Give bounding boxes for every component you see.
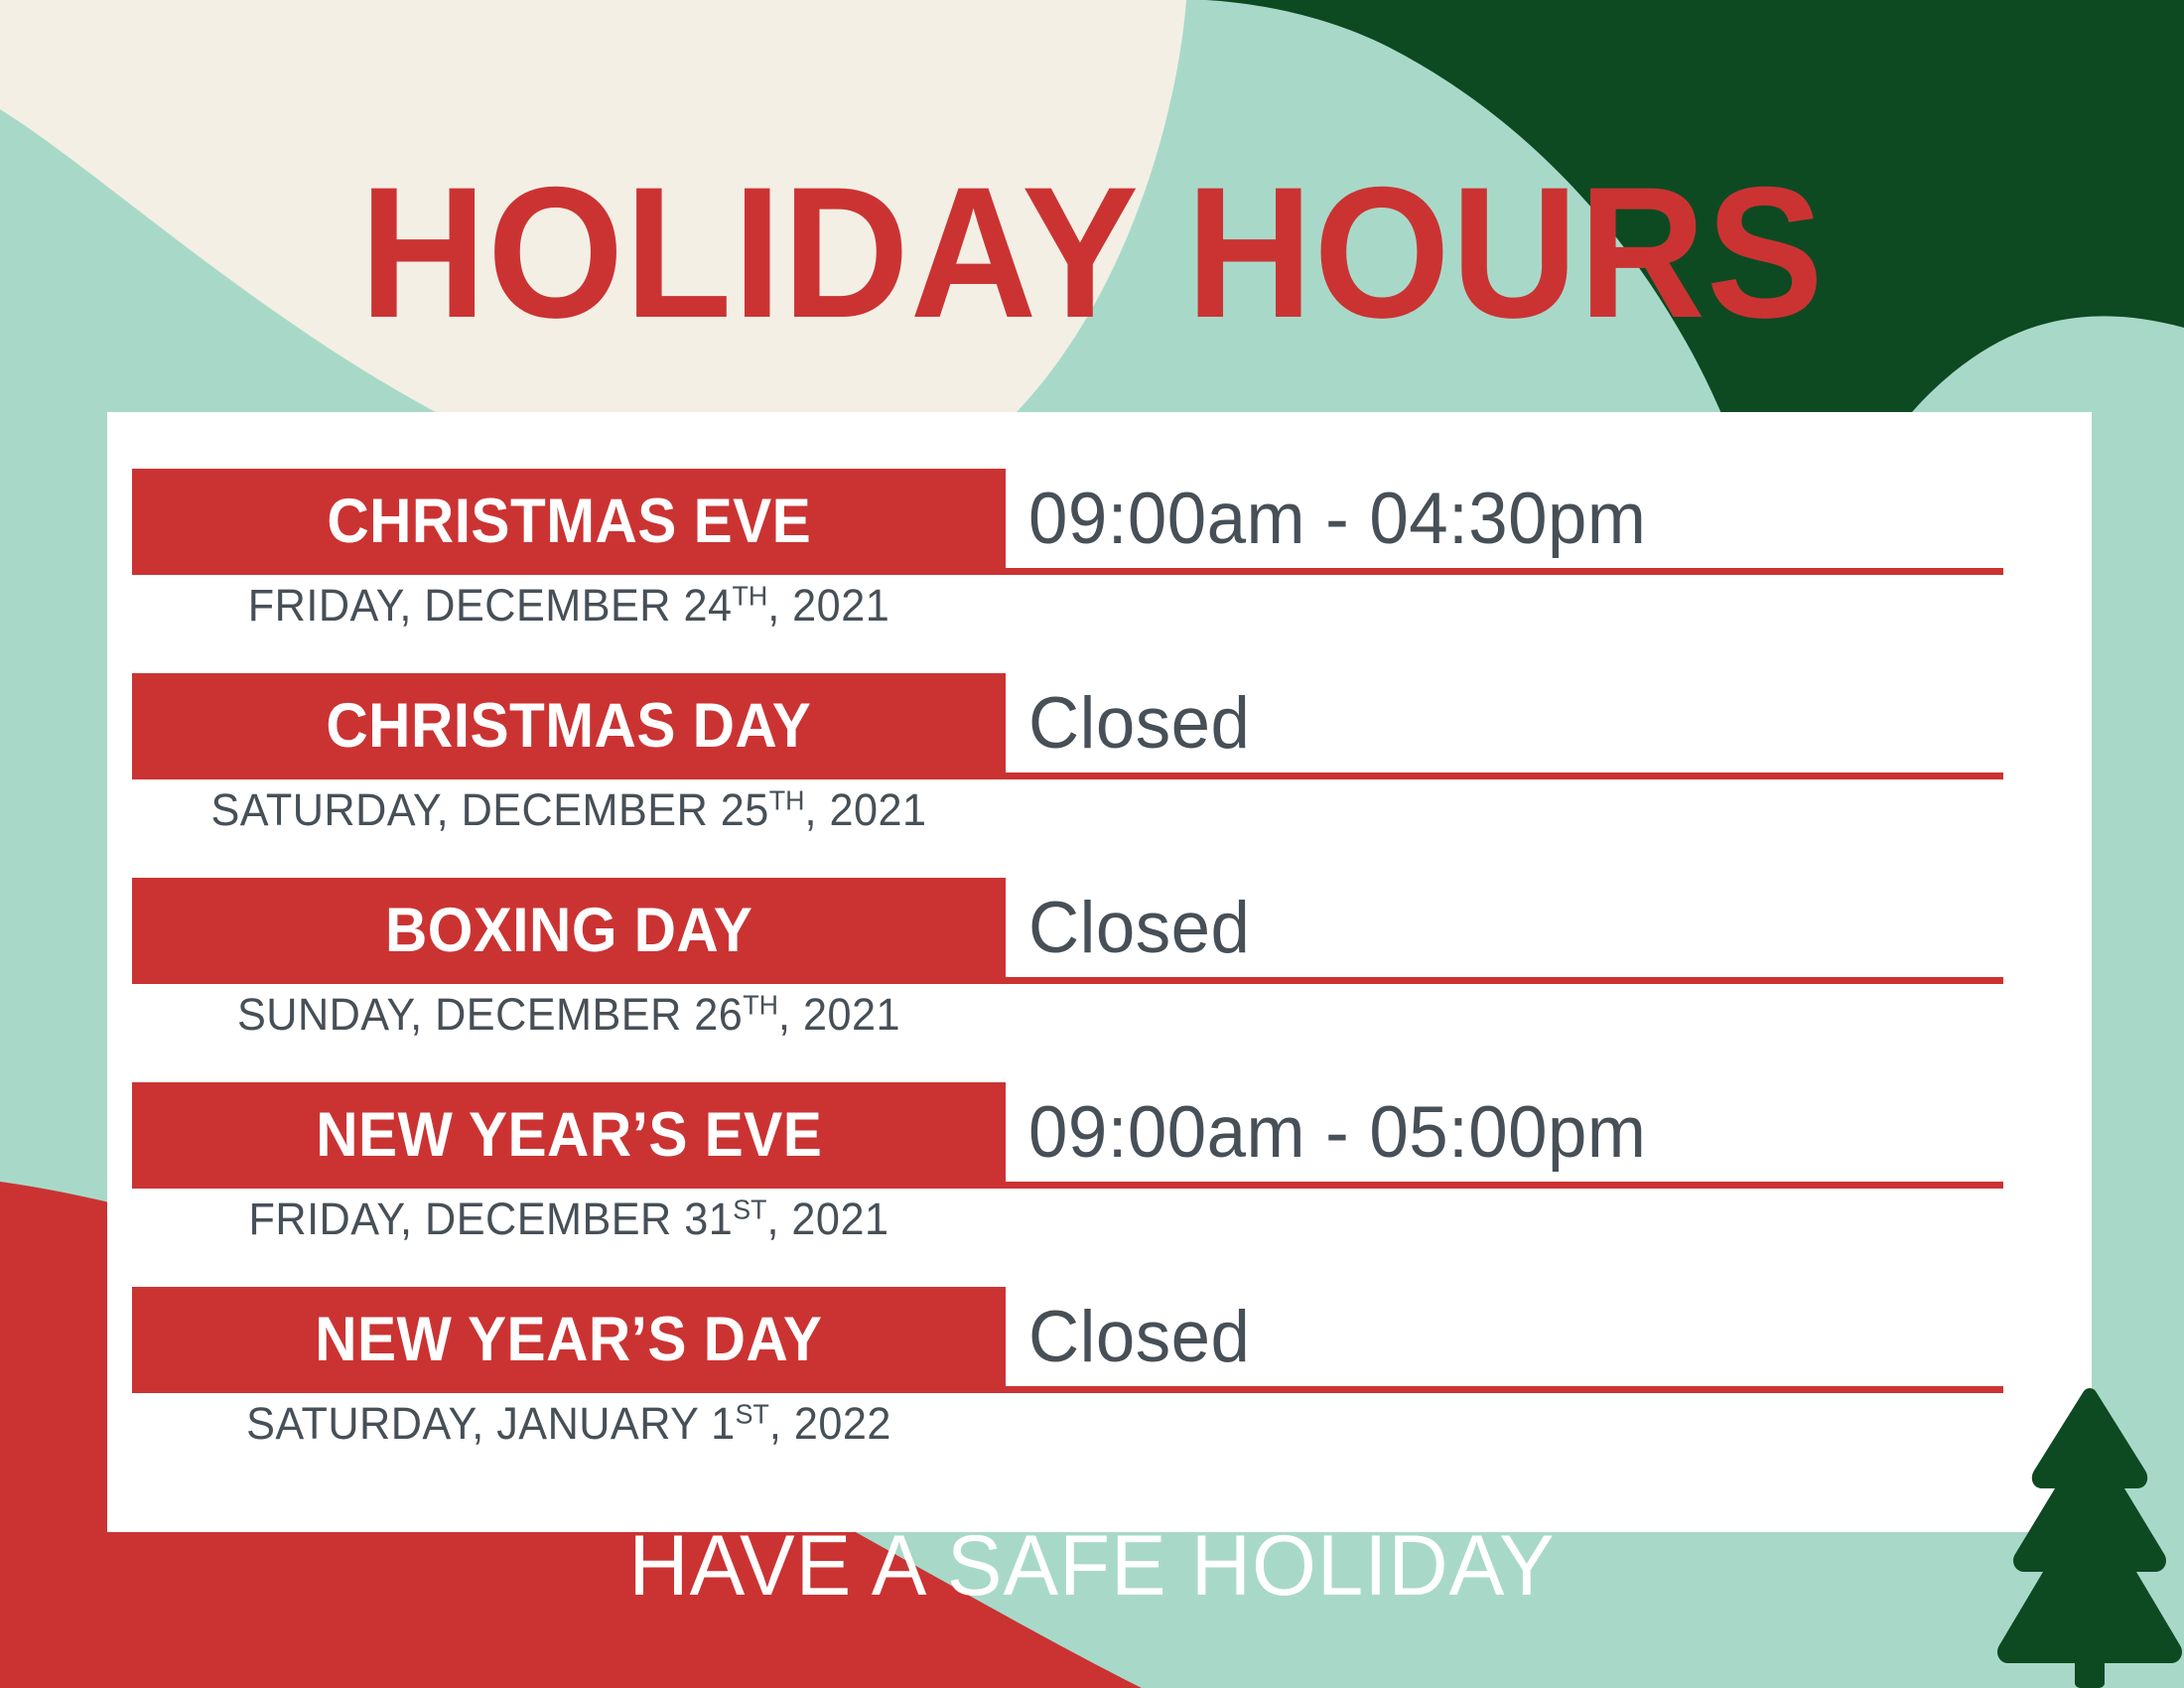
date-year: 2021 — [803, 989, 900, 1040]
footer-message: HAVE A SAFE HOLIDAY — [33, 1523, 2151, 1609]
date-day: 31 — [684, 1194, 733, 1244]
holiday-label-block: CHRISTMAS EVE — [132, 469, 1006, 575]
table-row: CHRISTMAS EVE FRIDAY, DECEMBER 24TH, 202… — [107, 469, 2092, 674]
holiday-date: SUNDAY, DECEMBER 26TH, 2021 — [150, 989, 989, 1041]
date-year: 2021 — [791, 1194, 888, 1244]
date-year: 2021 — [829, 784, 926, 835]
date-day: 1 — [711, 1398, 736, 1449]
holiday-date: FRIDAY, DECEMBER 24TH, 2021 — [150, 580, 989, 632]
holiday-name: BOXING DAY — [385, 900, 752, 962]
row-underline — [1006, 568, 2003, 575]
row-underline — [1006, 977, 2003, 984]
date-weekday: FRIDAY, — [248, 580, 412, 631]
holiday-label-block: NEW YEAR’S EVE — [132, 1082, 1006, 1189]
date-weekday: SATURDAY, — [211, 784, 450, 835]
date-day: 26 — [694, 989, 743, 1040]
holiday-hours: Closed — [1028, 1287, 1250, 1386]
page-title: HOLIDAY HOURS — [66, 159, 2118, 346]
date-month: DECEMBER — [424, 580, 671, 631]
table-row: NEW YEAR’S DAY SATURDAY, JANUARY 1ST, 20… — [107, 1287, 2092, 1492]
holiday-name: CHRISTMAS EVE — [327, 491, 811, 553]
date-ordinal: TH — [733, 581, 768, 612]
date-month: DECEMBER — [462, 784, 709, 835]
christmas-tree-icon — [1985, 1385, 2184, 1688]
date-ordinal: TH — [743, 990, 778, 1021]
row-underline — [1006, 1182, 2003, 1189]
table-row: CHRISTMAS DAY SATURDAY, DECEMBER 25TH, 2… — [107, 673, 2092, 879]
date-weekday: SUNDAY, — [237, 989, 423, 1040]
table-row: NEW YEAR’S EVE FRIDAY, DECEMBER 31ST, 20… — [107, 1082, 2092, 1288]
date-day: 25 — [721, 784, 769, 835]
holiday-hours: 09:00am - 05:00pm — [1028, 1082, 1646, 1182]
date-month: JANUARY — [496, 1398, 698, 1449]
row-underline — [1006, 773, 2003, 779]
holiday-label-block: BOXING DAY — [132, 878, 1006, 984]
date-ordinal: ST — [736, 1399, 769, 1430]
date-year: 2021 — [792, 580, 889, 631]
date-ordinal: ST — [733, 1195, 766, 1225]
holiday-name: NEW YEAR’S DAY — [315, 1309, 822, 1371]
holiday-hours: 09:00am - 04:30pm — [1028, 469, 1646, 568]
holiday-label-block: CHRISTMAS DAY — [132, 673, 1006, 779]
holiday-date: SATURDAY, JANUARY 1ST, 2022 — [150, 1398, 989, 1450]
date-weekday: FRIDAY, — [249, 1194, 413, 1244]
holiday-hours-poster: HOLIDAY HOURS CHRISTMAS EVE FRIDAY, DECE… — [0, 0, 2184, 1688]
hours-card: CHRISTMAS EVE FRIDAY, DECEMBER 24TH, 202… — [107, 412, 2092, 1532]
row-underline — [1006, 1386, 2003, 1393]
holiday-date: FRIDAY, DECEMBER 31ST, 2021 — [150, 1194, 989, 1245]
holiday-hours: Closed — [1028, 878, 1250, 977]
date-day: 24 — [683, 580, 732, 631]
holiday-name: CHRISTMAS DAY — [327, 695, 812, 758]
date-year: 2022 — [794, 1398, 891, 1449]
schedule-table: CHRISTMAS EVE FRIDAY, DECEMBER 24TH, 202… — [107, 412, 2092, 1532]
date-ordinal: TH — [769, 785, 805, 816]
date-weekday: SATURDAY, — [246, 1398, 484, 1449]
holiday-date: SATURDAY, DECEMBER 25TH, 2021 — [150, 784, 989, 836]
holiday-label-block: NEW YEAR’S DAY — [132, 1287, 1006, 1393]
holiday-name: NEW YEAR’S EVE — [316, 1104, 822, 1167]
date-month: DECEMBER — [435, 989, 682, 1040]
holiday-hours: Closed — [1028, 673, 1250, 773]
table-row: BOXING DAY SUNDAY, DECEMBER 26TH, 2021 C… — [107, 878, 2092, 1083]
date-month: DECEMBER — [425, 1194, 672, 1244]
